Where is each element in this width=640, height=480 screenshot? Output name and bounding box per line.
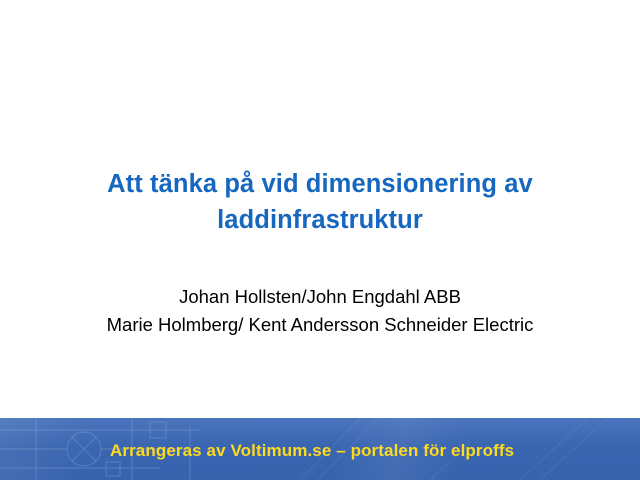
slide-title-line-2: laddinfrastruktur — [56, 202, 584, 238]
presenter-line-2: Marie Holmberg/ Kent Andersson Schneider… — [40, 311, 600, 339]
presentation-slide: Att tänka på vid dimensionering av laddi… — [0, 0, 640, 480]
slide-title-line-1: Att tänka på vid dimensionering av — [56, 166, 584, 202]
slide-title: Att tänka på vid dimensionering av laddi… — [56, 166, 584, 238]
presenter-line-1: Johan Hollsten/John Engdahl ABB — [40, 283, 600, 311]
footer-tagline: Arrangeras av Voltimum.se – portalen för… — [110, 441, 514, 461]
slide-presenters: Johan Hollsten/John Engdahl ABB Marie Ho… — [40, 283, 600, 339]
